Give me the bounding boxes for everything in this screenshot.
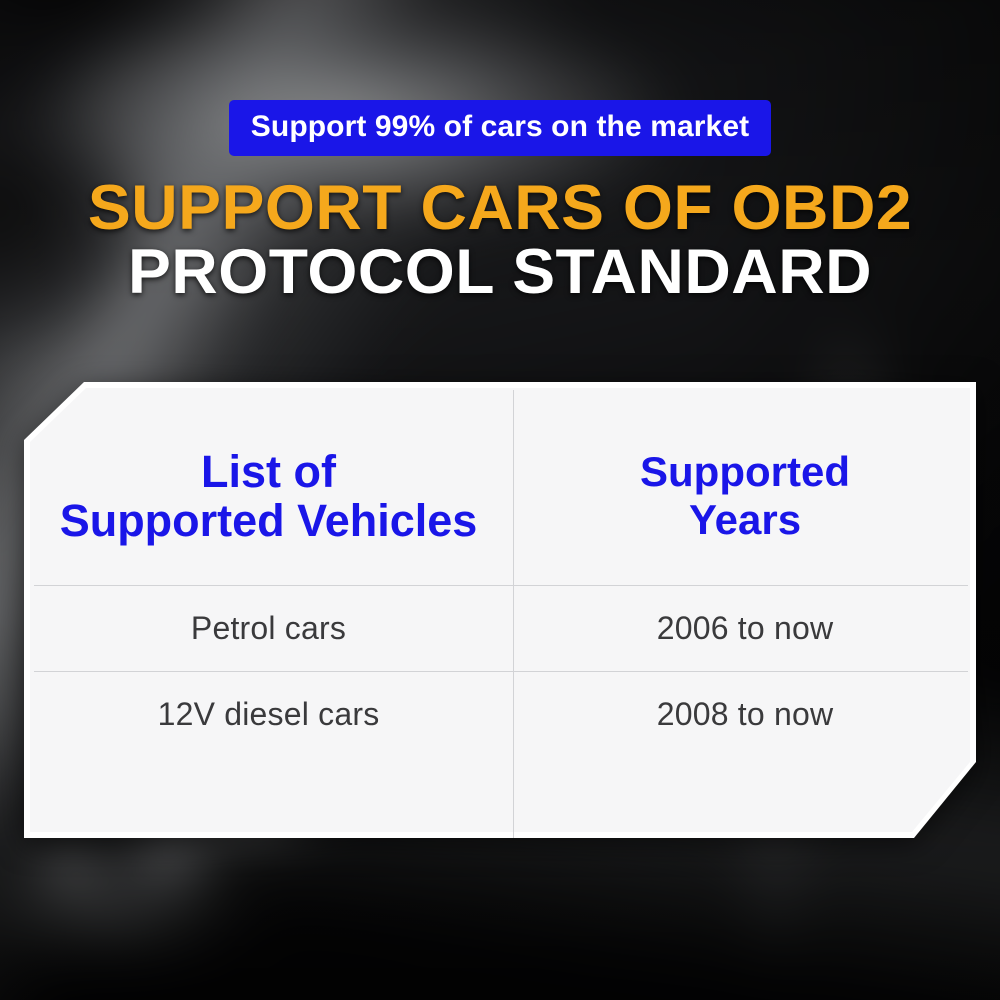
table-header-vehicles: List of Supported Vehicles — [24, 382, 513, 585]
support-badge: Support 99% of cars on the market — [229, 100, 771, 156]
compatibility-table: List of Supported Vehicles Supported Yea… — [24, 382, 976, 838]
hero-section: Support 99% of cars on the market SUPPOR… — [0, 100, 1000, 303]
table-header-years-line1: Supported — [640, 451, 850, 493]
headline-secondary: PROTOCOL STANDARD — [0, 242, 1000, 304]
table-header-vehicles-line1: List of — [201, 449, 336, 494]
table-header-years: Supported Years — [514, 382, 976, 585]
compatibility-table-card: List of Supported Vehicles Supported Yea… — [24, 382, 976, 838]
table-header-vehicles-line2: Supported Vehicles — [60, 498, 478, 543]
table-cell-years-1: 2006 to now — [514, 586, 976, 671]
table-cell-vehicle-1: Petrol cars — [24, 586, 513, 671]
table-cell-vehicle-2: 12V diesel cars — [24, 672, 513, 757]
headline-primary: SUPPORT CARS OF OBD2 — [0, 178, 1000, 240]
table-header-years-line2: Years — [689, 499, 801, 541]
table-cell-years-2: 2008 to now — [514, 672, 976, 757]
promo-banner: Support 99% of cars on the market SUPPOR… — [0, 0, 1000, 1000]
